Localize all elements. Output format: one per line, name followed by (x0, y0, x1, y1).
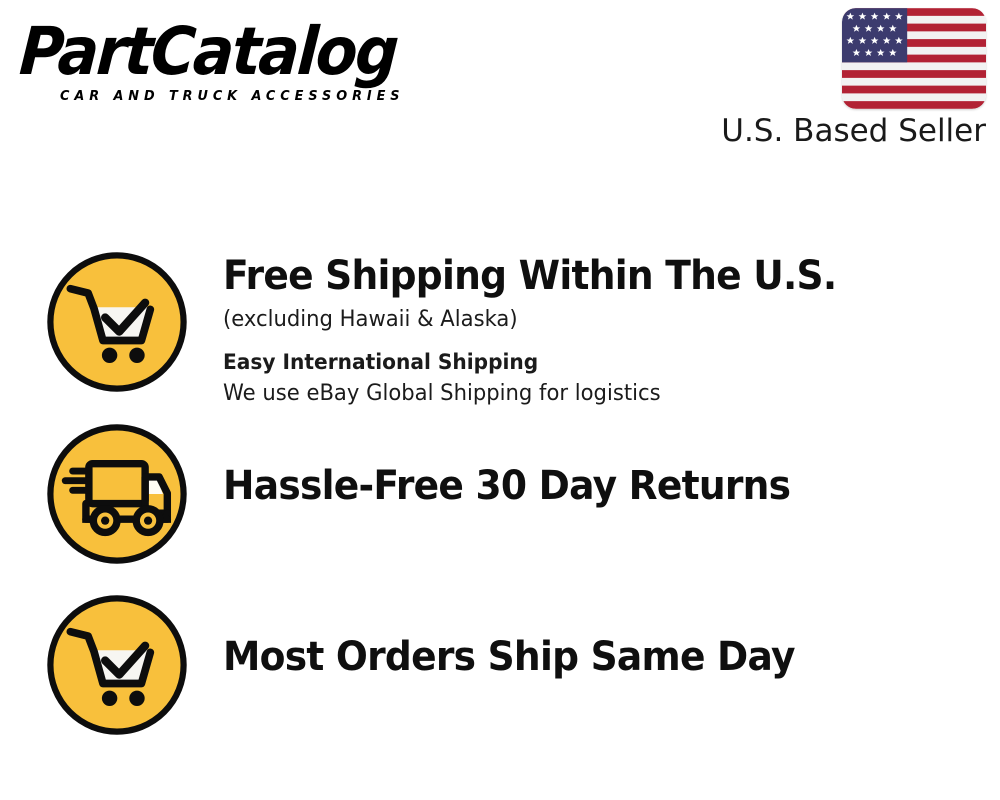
feature-text-block: Most Orders Ship Same Day (191, 591, 983, 681)
feature-secondary-title: Easy International Shipping (223, 346, 953, 378)
feature-item-same-day-ship: Most Orders Ship Same Day (43, 591, 983, 739)
delivery-truck-icon (43, 420, 191, 568)
us-flag-icon (842, 8, 986, 109)
brand-wordmark: PartCatalog (18, 18, 455, 86)
banner-header: PartCatalog CAR AND TRUCK ACCESSORIES (0, 0, 1000, 170)
shopping-cart-check-icon (43, 591, 191, 739)
feature-item-free-shipping: Free Shipping Within The U.S. (excluding… (43, 248, 983, 410)
brand-logo: PartCatalog CAR AND TRUCK ACCESSORIES (22, 18, 492, 116)
feature-item-returns: Hassle-Free 30 Day Returns (43, 420, 983, 568)
feature-title: Most Orders Ship Same Day (223, 633, 937, 681)
feature-text-block: Hassle-Free 30 Day Returns (191, 420, 983, 510)
feature-secondary-subtitle: We use eBay Global Shipping for logistic… (223, 378, 953, 410)
feature-subtitle: (excluding Hawaii & Alaska) (223, 304, 953, 336)
us-based-seller-label: U.S. Based Seller (716, 113, 986, 149)
shopping-cart-check-icon (43, 248, 191, 396)
shipping-info-banner: PartCatalog CAR AND TRUCK ACCESSORIES (0, 0, 1000, 800)
feature-title: Free Shipping Within The U.S. (223, 252, 937, 300)
us-based-seller-badge: U.S. Based Seller (716, 8, 986, 149)
brand-tagline: CAR AND TRUCK ACCESSORIES (60, 88, 470, 104)
feature-title: Hassle-Free 30 Day Returns (223, 462, 937, 510)
feature-text-block: Free Shipping Within The U.S. (excluding… (191, 248, 983, 410)
